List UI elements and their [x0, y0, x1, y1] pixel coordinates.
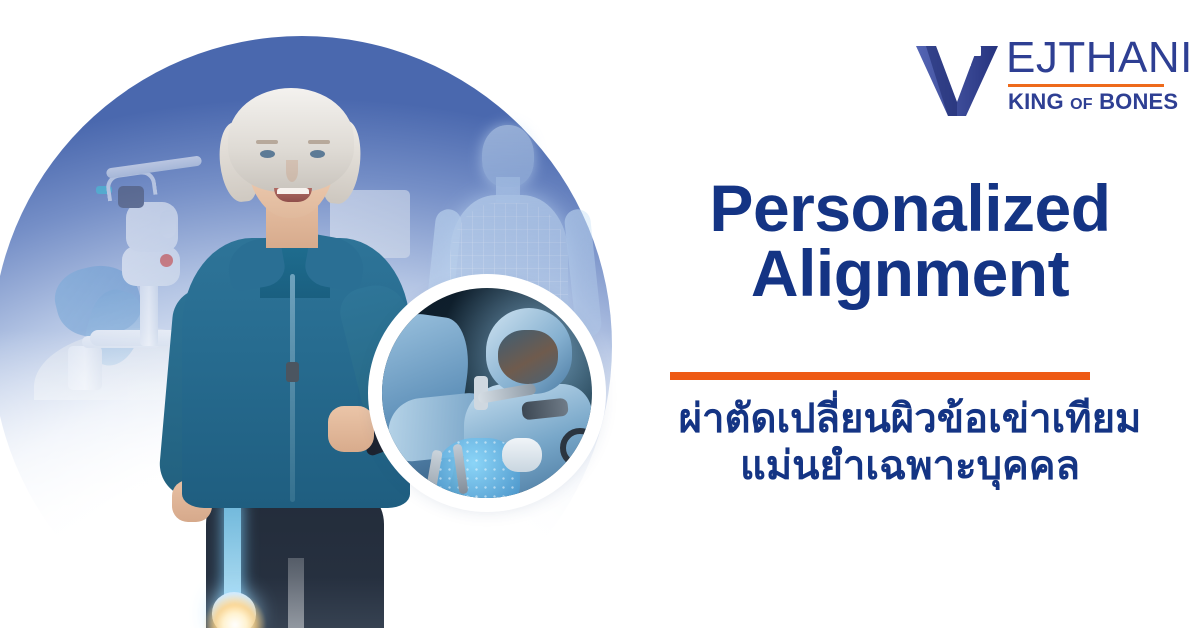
- leg-separation-shadow: [288, 558, 304, 628]
- hero-banner: EJTHANI KING OF BONES Personalized Align…: [0, 0, 1200, 628]
- jacket-zipper: [290, 274, 295, 502]
- page-title: Personalized Alignment: [620, 176, 1200, 305]
- content-panel: EJTHANI KING OF BONES Personalized Align…: [620, 0, 1200, 628]
- vejthani-logo[interactable]: EJTHANI KING OF BONES: [914, 26, 1164, 122]
- logo-tagline: KING OF BONES: [1008, 90, 1178, 114]
- woman-eyebrow-left: [256, 140, 278, 144]
- logo-tagline-of: OF: [1070, 96, 1093, 113]
- page-subtitle: ผ่าตัดเปลี่ยนผิวข้อเข่าเทียม แม่นยำเฉพาะ…: [620, 396, 1200, 490]
- logo-wordmark: EJTHANI: [1006, 36, 1193, 80]
- woman-nose: [286, 160, 298, 182]
- logo-tagline-king: KING: [1008, 89, 1064, 114]
- woman-eye-right: [310, 150, 325, 158]
- surgeon-glove: [502, 438, 542, 472]
- orange-divider: [670, 372, 1090, 380]
- subhead-line-1: ผ่าตัดเปลี่ยนผิวข้อเข่าเทียม: [620, 396, 1200, 443]
- woman-teeth: [277, 188, 309, 194]
- headline-line-2: Alignment: [620, 241, 1200, 306]
- logo-tagline-bones: BONES: [1099, 89, 1178, 114]
- woman-right-hand: [328, 406, 374, 452]
- glowing-knee-xray-icon: [198, 496, 288, 628]
- headline-line-1: Personalized: [620, 176, 1200, 241]
- surgeons-operating-circle-icon: [375, 281, 599, 505]
- woman-eyebrow-right: [308, 140, 330, 144]
- lead-surgeon-visor: [498, 330, 558, 384]
- inset-photo: [382, 288, 592, 498]
- subhead-line-2: แม่นยำเฉพาะบุคคล: [620, 443, 1200, 490]
- knee-glow-highlight: [204, 594, 266, 628]
- logo-orange-rule: [1008, 84, 1164, 87]
- visual-composition: [0, 0, 640, 628]
- hologram-head: [482, 125, 534, 187]
- jacket-zipper-pull: [286, 362, 299, 382]
- woman-eye-left: [260, 150, 275, 158]
- cross-horizontal: [951, 46, 981, 56]
- scope-ring: [560, 428, 592, 468]
